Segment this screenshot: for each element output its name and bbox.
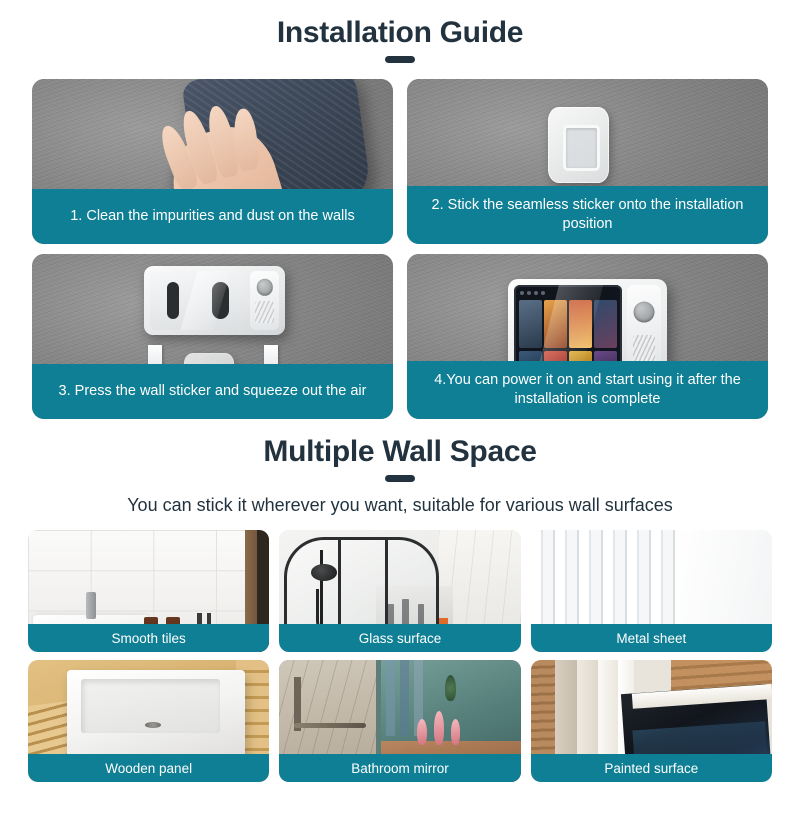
adhesive-sticker-icon — [548, 107, 609, 183]
wall-surface-card-bathroom-mirror[interactable]: Bathroom mirror — [279, 660, 520, 782]
install-step-caption-1: 1. Clean the impurities and dust on the … — [32, 189, 393, 244]
wall-surface-caption-wooden-panel: Wooden panel — [28, 754, 269, 782]
wall-space-section: Multiple Wall Space You can stick it whe… — [0, 435, 800, 782]
wall-surface-caption-painted-surface: Painted surface — [531, 754, 772, 782]
wall-surface-card-glass-surface[interactable]: Glass surface — [279, 530, 520, 652]
page-title: Installation Guide — [0, 16, 800, 50]
wall-surface-caption-bathroom-mirror: Bathroom mirror — [279, 754, 520, 782]
wall-surface-card-wooden-panel[interactable]: Wooden panel — [28, 660, 269, 782]
title-underline-rule — [385, 56, 415, 63]
installation-guide-section: Installation Guide 1. Clean the impuriti… — [0, 16, 800, 419]
install-step-caption-2: 2. Stick the seamless sticker onto the i… — [407, 186, 768, 244]
install-step-card-3[interactable]: 3. Press the wall sticker and squeeze ou… — [32, 254, 393, 419]
wall-space-subtitle: You can stick it wherever you want, suit… — [0, 495, 800, 516]
wall-space-underline-rule — [385, 475, 415, 482]
installation-steps-grid: 1. Clean the impurities and dust on the … — [0, 79, 800, 419]
wall-surface-caption-glass-surface: Glass surface — [279, 624, 520, 652]
wall-surface-card-painted-surface[interactable]: Painted surface — [531, 660, 772, 782]
wall-surface-card-smooth-tiles[interactable]: Smooth tiles — [28, 530, 269, 652]
install-step-card-2[interactable]: 2. Stick the seamless sticker onto the i… — [407, 79, 768, 244]
wall-surfaces-grid: Smooth tiles Glas — [0, 530, 800, 782]
install-step-caption-3: 3. Press the wall sticker and squeeze ou… — [32, 364, 393, 419]
wall-space-title: Multiple Wall Space — [0, 435, 800, 469]
wall-surface-caption-metal-sheet: Metal sheet — [531, 624, 772, 652]
wall-surface-caption-smooth-tiles: Smooth tiles — [28, 624, 269, 652]
install-step-card-4[interactable]: 4.You can power it on and start using it… — [407, 254, 768, 419]
wall-surface-card-metal-sheet[interactable]: Metal sheet — [531, 530, 772, 652]
install-step-card-1[interactable]: 1. Clean the impurities and dust on the … — [32, 79, 393, 244]
device-rear-illustration — [144, 266, 285, 335]
install-step-caption-4: 4.You can power it on and start using it… — [407, 361, 768, 419]
